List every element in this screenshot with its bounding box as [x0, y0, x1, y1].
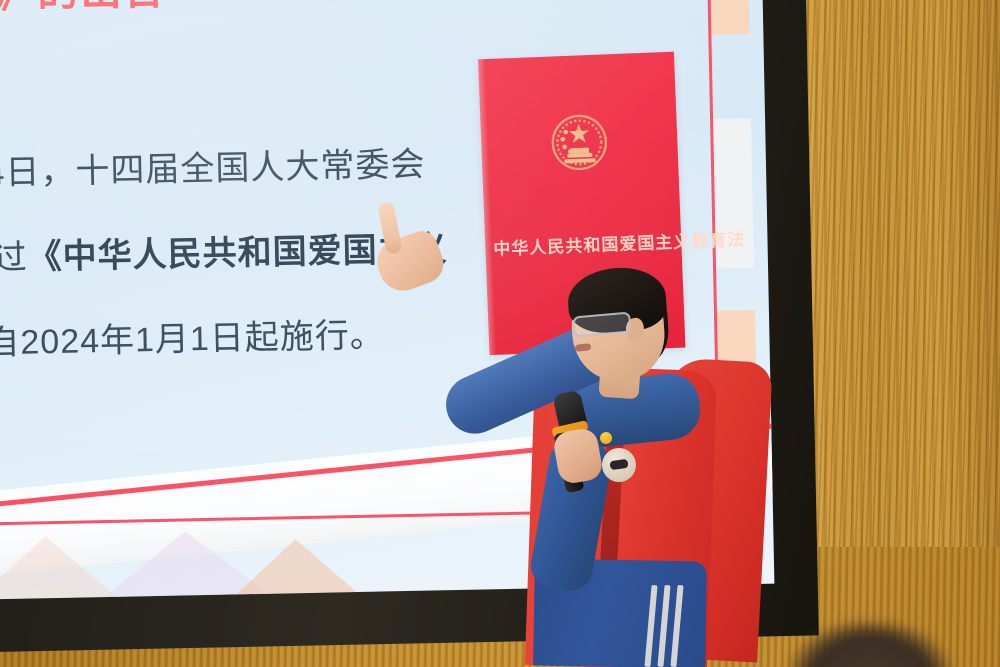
presenter: [0, 0, 1000, 667]
screenshot-root: 义教育法》的出台 23年10月24日，十四届全国人大常委会 会议表决通过《中华人…: [0, 0, 1000, 667]
